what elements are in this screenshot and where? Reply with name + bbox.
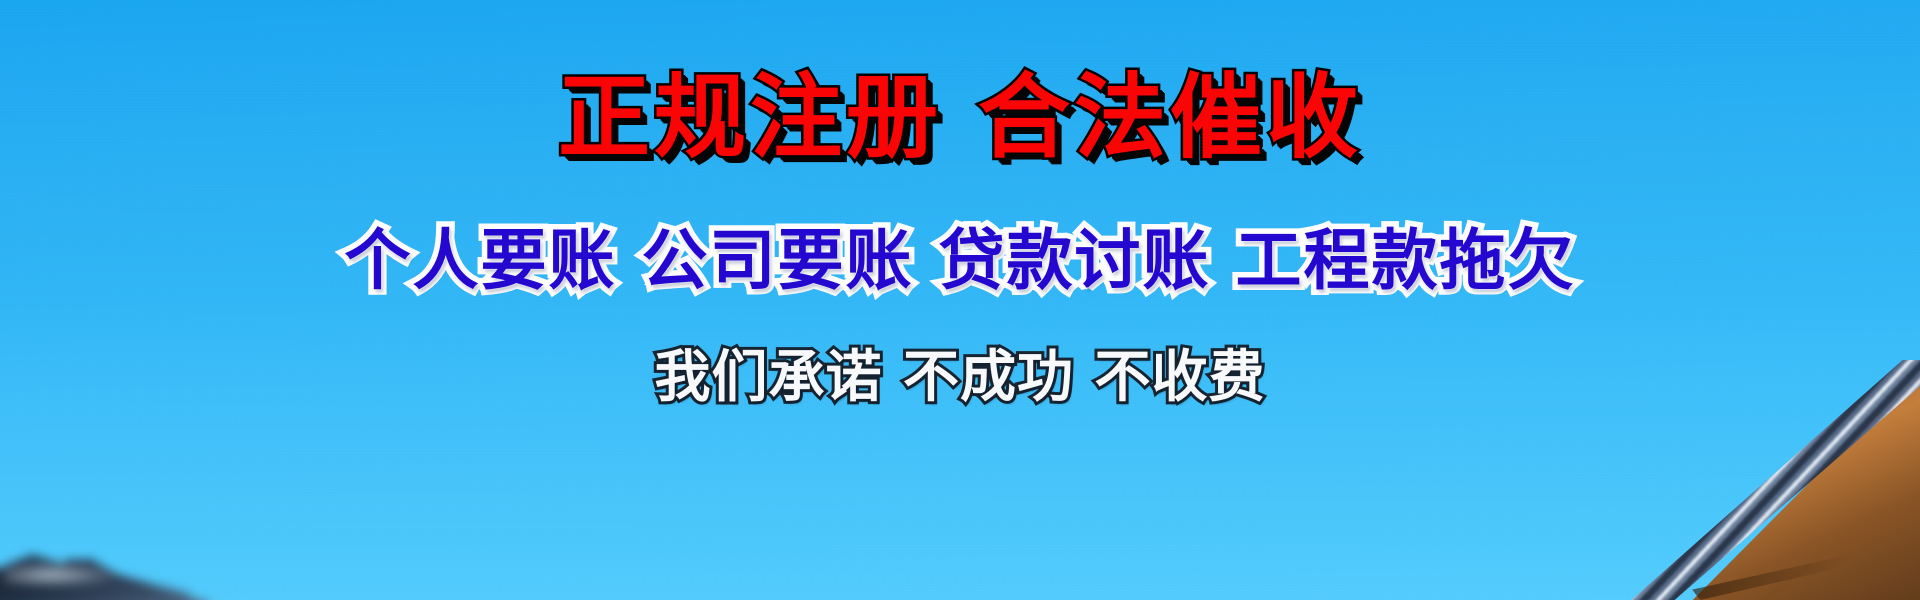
promotional-banner: 正规注册 合法催收 个人要账 公司要账 贷款讨账 工程款拖欠 我们承诺 不成功 … [0, 0, 1920, 600]
banner-promise-line: 我们承诺 不成功 不收费 [0, 350, 1920, 406]
banner-headline: 正规注册 合法催收 [0, 72, 1920, 164]
banner-text-content: 正规注册 合法催收 个人要账 公司要账 贷款讨账 工程款拖欠 我们承诺 不成功 … [0, 0, 1920, 600]
banner-services-line: 个人要账 公司要账 贷款讨账 工程款拖欠 [0, 228, 1920, 294]
